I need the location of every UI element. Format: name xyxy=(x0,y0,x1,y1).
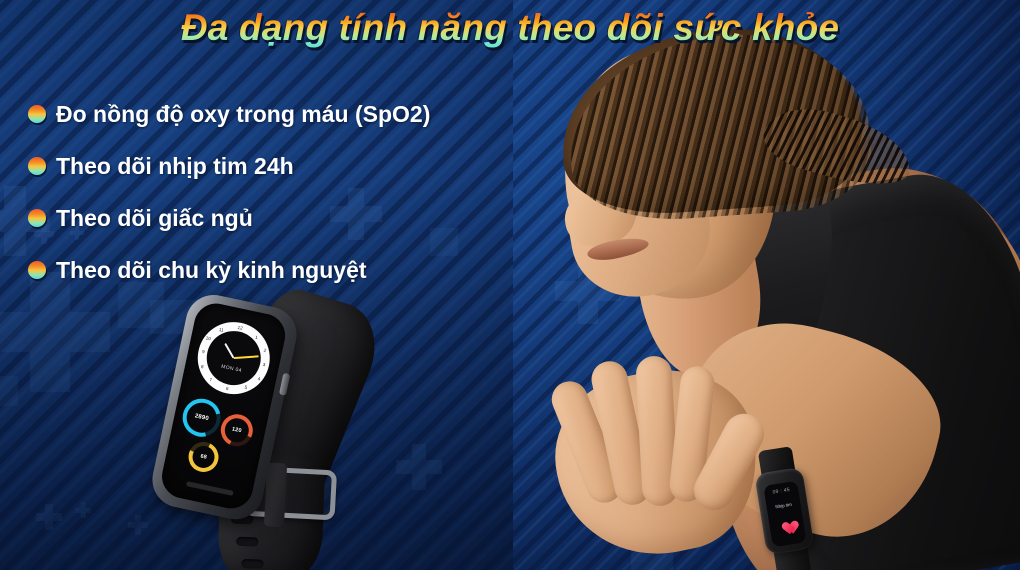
worn-band-screen: 09 : 45 Nhịp tim xyxy=(763,481,806,548)
worn-band-body: 09 : 45 Nhịp tim xyxy=(754,467,814,555)
feature-label: Đo nồng độ oxy trong máu (SpO2) xyxy=(56,101,430,127)
strap-hole xyxy=(236,537,258,547)
health-feature-banner: 09 : 45 Nhịp tim xyxy=(0,0,1020,570)
list-item: Theo dõi giấc ngủ xyxy=(28,192,498,244)
decor-square xyxy=(0,376,18,406)
list-item: Đo nồng độ oxy trong máu (SpO2) xyxy=(28,88,498,140)
clock-numeral: 5 xyxy=(244,385,248,390)
feature-list: Đo nồng độ oxy trong máu (SpO2) Theo dõi… xyxy=(28,88,498,296)
plus-cross-icon xyxy=(396,444,442,490)
plus-cross-icon xyxy=(75,502,91,518)
feature-label: Theo dõi chu kỳ kinh nguyệt xyxy=(56,257,367,283)
calories-ring-value: 120 xyxy=(231,426,242,434)
calories-ring: 120 xyxy=(217,410,257,450)
band-strap-holes-lower xyxy=(229,515,291,570)
steps-ring: 2890 xyxy=(175,392,227,444)
product-smart-band: 12 3 6 9 1 2 4 5 7 8 10 11 MON 04 2890 1… xyxy=(136,284,403,570)
watch-clock-face: 12 3 6 9 1 2 4 5 7 8 10 11 MON 04 xyxy=(191,315,276,400)
clock-numeral: 9 xyxy=(202,349,206,354)
title-container: Đa dạng tính năng theo dõi sức khỏe xyxy=(0,6,1020,50)
worn-band-time: 09 : 45 xyxy=(764,486,799,497)
heart-rate-ring-value: 68 xyxy=(200,453,208,460)
clock-numeral: 10 xyxy=(205,335,211,341)
steps-ring-value: 2890 xyxy=(194,413,209,422)
worn-band-metric-label: Nhịp tim xyxy=(766,500,800,510)
heart-rate-ring: 68 xyxy=(185,438,223,476)
clock-numeral: 11 xyxy=(219,327,225,333)
clock-numeral: 3 xyxy=(262,362,266,367)
gradient-bullet-icon xyxy=(28,105,46,123)
heart-icon xyxy=(778,516,795,532)
athlete-photo: 09 : 45 Nhịp tim xyxy=(513,0,1020,570)
list-item: Theo dõi chu kỳ kinh nguyệt xyxy=(28,244,498,296)
clock-numeral: 1 xyxy=(255,335,259,340)
gradient-bullet-icon xyxy=(28,209,46,227)
clock-numeral: 6 xyxy=(226,386,230,391)
athlete-figure: 09 : 45 Nhịp tim xyxy=(513,0,1020,570)
page-title: Đa dạng tính năng theo dõi sức khỏe xyxy=(181,6,839,50)
clock-numeral: 7 xyxy=(209,377,213,382)
gradient-bullet-icon xyxy=(28,157,46,175)
clock-numeral: 2 xyxy=(263,348,267,353)
plus-cross-icon xyxy=(36,504,62,530)
list-item: Theo dõi nhịp tim 24h xyxy=(28,140,498,192)
gradient-bullet-icon xyxy=(28,261,46,279)
strap-hole xyxy=(241,559,263,569)
feature-label: Theo dõi giấc ngủ xyxy=(56,205,253,231)
clock-numeral: 12 xyxy=(237,325,243,331)
feature-label: Theo dõi nhịp tim 24h xyxy=(56,153,294,179)
